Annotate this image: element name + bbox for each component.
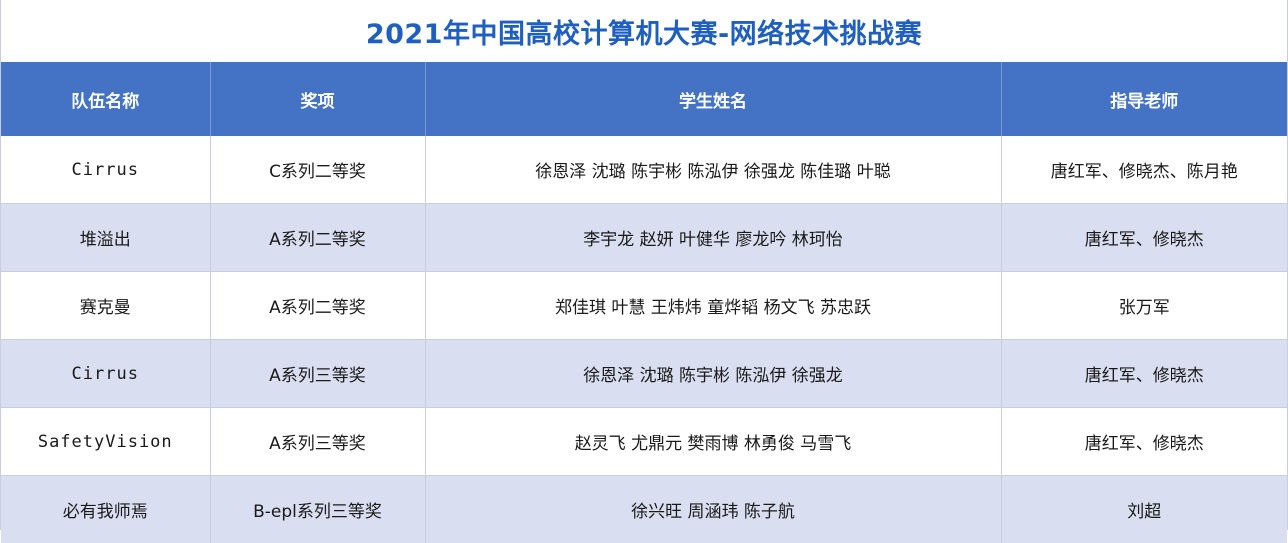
cell-teachers: 刘超 xyxy=(1001,476,1287,543)
cell-students: 徐恩泽 沈璐 陈宇彬 陈泓伊 徐强龙 陈佳璐 叶聪 xyxy=(425,136,1001,204)
table-row: 必有我师焉 B-epl系列三等奖 徐兴旺 周涵玮 陈子航 刘超 xyxy=(1,476,1287,543)
cell-teachers: 唐红军、修晓杰、陈月艳 xyxy=(1001,136,1287,204)
cell-award: A系列三等奖 xyxy=(210,340,425,408)
column-header-students: 学生姓名 xyxy=(425,62,1001,136)
table-body: Cirrus C系列二等奖 徐恩泽 沈璐 陈宇彬 陈泓伊 徐强龙 陈佳璐 叶聪 … xyxy=(1,136,1287,543)
award-results-table: 队伍名称 奖项 学生姓名 指导老师 Cirrus C系列二等奖 徐恩泽 沈璐 陈… xyxy=(1,62,1287,543)
cell-award: B-epl系列三等奖 xyxy=(210,476,425,543)
cell-teachers: 唐红军、修晓杰 xyxy=(1001,408,1287,476)
title-bar: 2021年中国高校计算机大赛-网络技术挑战赛 xyxy=(1,0,1287,62)
cell-team: 必有我师焉 xyxy=(1,476,210,543)
award-table-page: 2021年中国高校计算机大赛-网络技术挑战赛 队伍名称 奖项 学生姓名 指导老师… xyxy=(0,0,1288,530)
table-row: 堆溢出 A系列二等奖 李宇龙 赵妍 叶健华 廖龙吟 林珂怡 唐红军、修晓杰 xyxy=(1,204,1287,272)
cell-students: 徐恩泽 沈璐 陈宇彬 陈泓伊 徐强龙 xyxy=(425,340,1001,408)
column-header-team: 队伍名称 xyxy=(1,62,210,136)
cell-students: 赵灵飞 尤鼎元 樊雨博 林勇俊 马雪飞 xyxy=(425,408,1001,476)
table-row: 赛克曼 A系列二等奖 郑佳琪 叶慧 王炜炜 童烨韬 杨文飞 苏忠跃 张万军 xyxy=(1,272,1287,340)
cell-team: Cirrus xyxy=(1,136,210,204)
page-title: 2021年中国高校计算机大赛-网络技术挑战赛 xyxy=(366,12,922,51)
column-header-award: 奖项 xyxy=(210,62,425,136)
cell-award: A系列三等奖 xyxy=(210,408,425,476)
table-header-row: 队伍名称 奖项 学生姓名 指导老师 xyxy=(1,62,1287,136)
cell-students: 郑佳琪 叶慧 王炜炜 童烨韬 杨文飞 苏忠跃 xyxy=(425,272,1001,340)
cell-team: 堆溢出 xyxy=(1,204,210,272)
table-row: Cirrus C系列二等奖 徐恩泽 沈璐 陈宇彬 陈泓伊 徐强龙 陈佳璐 叶聪 … xyxy=(1,136,1287,204)
cell-award: C系列二等奖 xyxy=(210,136,425,204)
column-header-teachers: 指导老师 xyxy=(1001,62,1287,136)
table-header: 队伍名称 奖项 学生姓名 指导老师 xyxy=(1,62,1287,136)
cell-teachers: 张万军 xyxy=(1001,272,1287,340)
table-row: Cirrus A系列三等奖 徐恩泽 沈璐 陈宇彬 陈泓伊 徐强龙 唐红军、修晓杰 xyxy=(1,340,1287,408)
table-row: SafetyVision A系列三等奖 赵灵飞 尤鼎元 樊雨博 林勇俊 马雪飞 … xyxy=(1,408,1287,476)
cell-teachers: 唐红军、修晓杰 xyxy=(1001,204,1287,272)
cell-students: 李宇龙 赵妍 叶健华 廖龙吟 林珂怡 xyxy=(425,204,1001,272)
cell-team: 赛克曼 xyxy=(1,272,210,340)
cell-award: A系列二等奖 xyxy=(210,272,425,340)
cell-students: 徐兴旺 周涵玮 陈子航 xyxy=(425,476,1001,543)
cell-team: SafetyVision xyxy=(1,408,210,476)
cell-teachers: 唐红军、修晓杰 xyxy=(1001,340,1287,408)
cell-team: Cirrus xyxy=(1,340,210,408)
cell-award: A系列二等奖 xyxy=(210,204,425,272)
